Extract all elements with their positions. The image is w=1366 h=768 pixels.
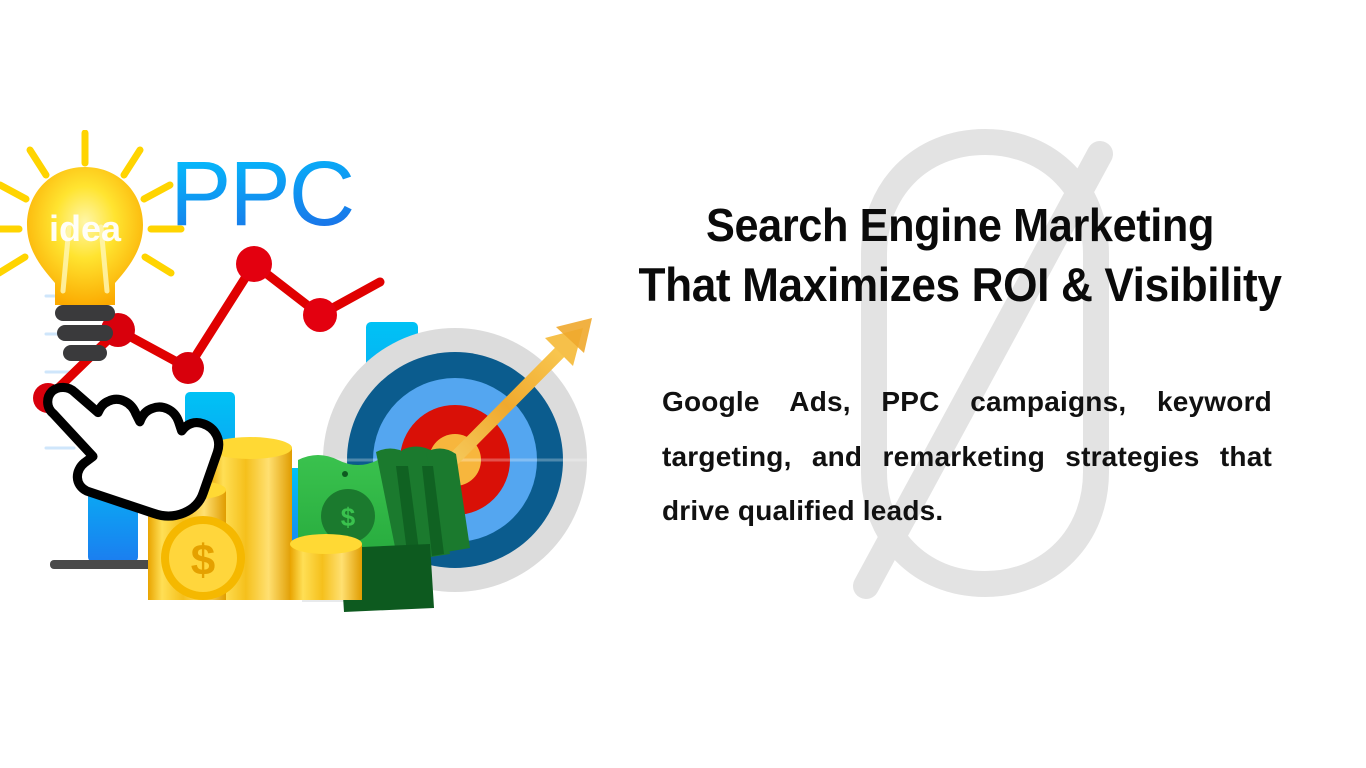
svg-text:$: $ [341,502,356,532]
coin-stack-right [290,534,362,600]
ppc-wordmark: PPC [170,143,353,245]
lightbulb-base [55,305,115,361]
trend-point-5 [303,298,337,332]
lightbulb-idea-icon: idea [0,133,181,361]
lightbulb-label: idea [49,208,122,249]
dollar-coin: $ [161,516,245,600]
headline-line-2: That Maximizes ROI & Visibility [593,255,1326,315]
page-title: Search Engine Marketing That Maximizes R… [593,196,1326,315]
copy-block: Search Engine Marketing That Maximizes R… [570,196,1350,539]
marketing-banner: $ [0,0,1366,768]
svg-text:$: $ [191,536,215,585]
trend-point-3 [172,352,204,384]
subcopy-paragraph: Google Ads, PPC campaigns, keyword targe… [662,375,1272,539]
ppc-illustration: $ [0,130,620,630]
headline-line-1: Search Engine Marketing [593,196,1326,255]
trend-point-4 [236,246,272,282]
